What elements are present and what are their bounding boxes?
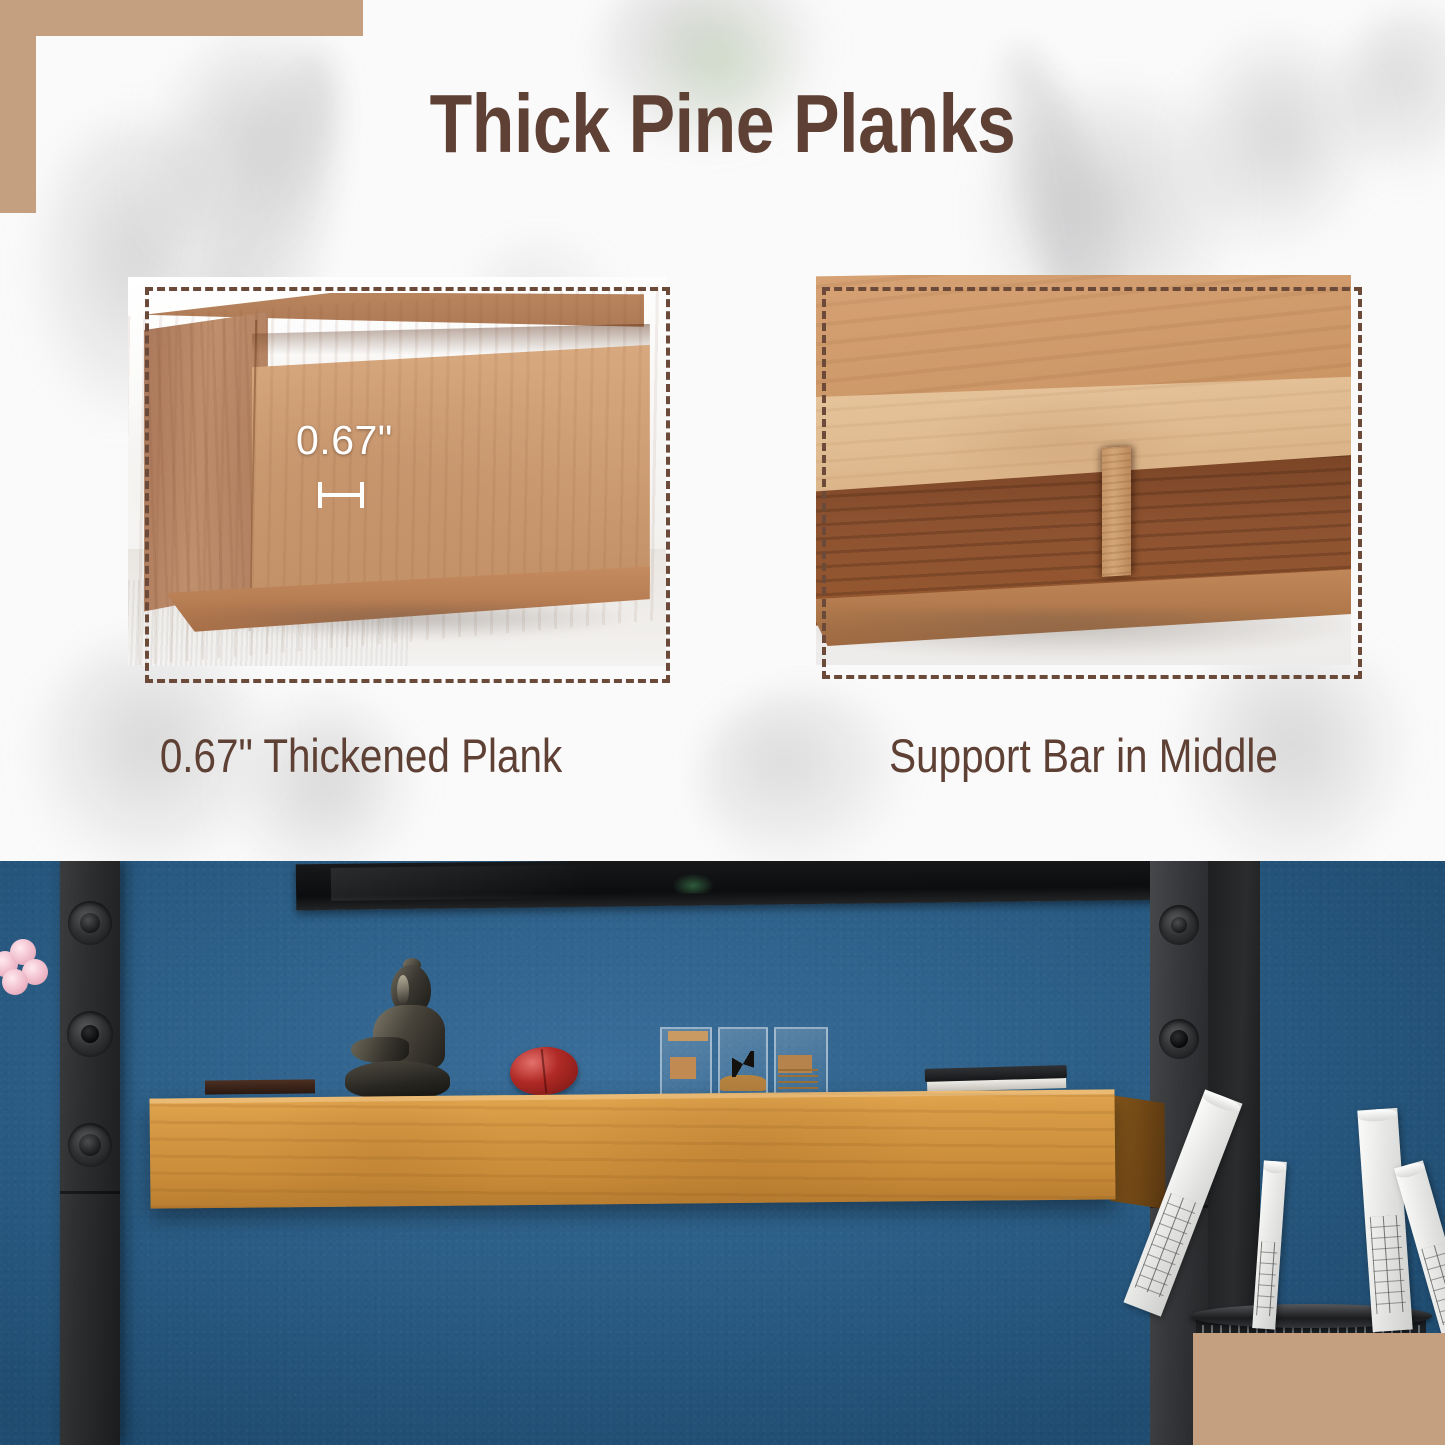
cherry-blossom: [0, 939, 54, 1001]
book-stack-dark: [205, 1079, 315, 1094]
infographic-page: Thick Pine Planks 0.67": [0, 0, 1445, 1445]
feature-card-support-bar: Support Bar in Middle: [722, 0, 1445, 861]
tan-block: [1193, 1333, 1445, 1445]
feature-caption-support-bar: Support Bar in Middle: [773, 728, 1395, 783]
floating-shelf-end-cap: [1109, 1095, 1165, 1209]
lifestyle-photo-section: [0, 861, 1445, 1445]
buddha-statue: [345, 965, 450, 1098]
dashed-frame-left: [145, 287, 670, 683]
feature-section: Thick Pine Planks 0.67": [0, 0, 1445, 861]
dashed-frame-right: [822, 287, 1362, 679]
floating-wood-shelf: [149, 1089, 1115, 1208]
glass-display-art: [660, 1027, 830, 1099]
feature-card-thickened-plank: 0.67" 0.67" Thickened Plank: [0, 0, 722, 861]
feature-caption-thickened-plank: 0.67" Thickened Plank: [51, 728, 672, 783]
speaker-tower-left: [60, 861, 120, 1445]
